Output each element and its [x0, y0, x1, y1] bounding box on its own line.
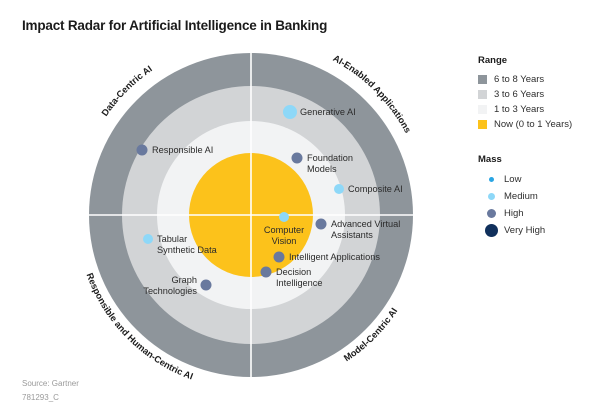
legend-mass-dot-cell — [478, 177, 504, 182]
radar-blip-label: Intelligent Applications — [289, 252, 380, 263]
legend-mass-dot — [485, 224, 498, 237]
legend-swatch — [478, 105, 487, 114]
radar-blip[interactable] — [261, 267, 272, 278]
radar-blip[interactable] — [143, 234, 153, 244]
legend-mass-item[interactable]: High — [478, 205, 598, 222]
legend-swatch — [478, 90, 487, 99]
legend-mass-item[interactable]: Medium — [478, 188, 598, 205]
legend-mass-list: LowMediumHighVery High — [478, 171, 598, 239]
legend-mass-dot — [488, 193, 495, 200]
legend-range-label: 6 to 8 Years — [494, 74, 544, 85]
legend-mass-dot — [487, 209, 496, 218]
radar-blip-label: Composite AI — [348, 184, 403, 195]
legend-mass-dot-cell — [478, 193, 504, 200]
legend-range-label: 3 to 6 Years — [494, 89, 544, 100]
radar-blip-label: Computer Vision — [224, 225, 344, 246]
legend-mass-dot-cell — [478, 209, 504, 218]
legend: Range 6 to 8 Years3 to 6 Years1 to 3 Yea… — [478, 55, 598, 239]
legend-mass-dot-cell — [478, 224, 504, 237]
legend-mass-label: Very High — [504, 225, 545, 236]
legend-swatch — [478, 120, 487, 129]
source-note: Source: Gartner 781293_C — [22, 377, 79, 405]
legend-range-item[interactable]: 1 to 3 Years — [478, 102, 598, 117]
radar-svg: Responsible and Human-Centric AIModel-Ce… — [0, 0, 470, 415]
radar-blip[interactable] — [283, 105, 297, 119]
legend-range-item[interactable]: 3 to 6 Years — [478, 87, 598, 102]
legend-range-item[interactable]: 6 to 8 Years — [478, 72, 598, 87]
radar-blip[interactable] — [279, 212, 289, 222]
source-line-1: Source: Gartner — [22, 377, 79, 391]
radar-blip[interactable] — [201, 280, 212, 291]
legend-mass-label: Medium — [504, 191, 538, 202]
radar-blip-label: Responsible AI — [152, 145, 213, 156]
radar-blip-label: Foundation Models — [307, 153, 353, 174]
legend-range-list: 6 to 8 Years3 to 6 Years1 to 3 YearsNow … — [478, 72, 598, 132]
legend-mass-dot — [489, 177, 494, 182]
legend-mass-label: Low — [504, 174, 521, 185]
radar-blip[interactable] — [292, 153, 303, 164]
radar-blip[interactable] — [137, 145, 148, 156]
legend-mass-item[interactable]: Very High — [478, 222, 598, 239]
legend-range-item[interactable]: Now (0 to 1 Years) — [478, 117, 598, 132]
impact-radar-chart: Responsible and Human-Centric AIModel-Ce… — [0, 0, 470, 415]
legend-mass-heading: Mass — [478, 154, 598, 165]
radar-blip-label: Decision Intelligence — [276, 267, 322, 288]
legend-swatch — [478, 75, 487, 84]
legend-range-label: Now (0 to 1 Years) — [494, 119, 572, 130]
radar-blip-label: Graph Technologies — [143, 275, 197, 296]
legend-mass-label: High — [504, 208, 524, 219]
radar-blip-label: Generative AI — [300, 107, 356, 118]
legend-mass-item[interactable]: Low — [478, 171, 598, 188]
radar-blip[interactable] — [274, 252, 285, 263]
radar-blip[interactable] — [334, 184, 344, 194]
radar-blip-label: Tabular Synthetic Data — [157, 234, 217, 255]
radar-blip-label: Advanced Virtual Assistants — [331, 219, 400, 240]
legend-range-label: 1 to 3 Years — [494, 104, 544, 115]
source-line-2: 781293_C — [22, 391, 79, 405]
legend-range-heading: Range — [478, 55, 598, 66]
